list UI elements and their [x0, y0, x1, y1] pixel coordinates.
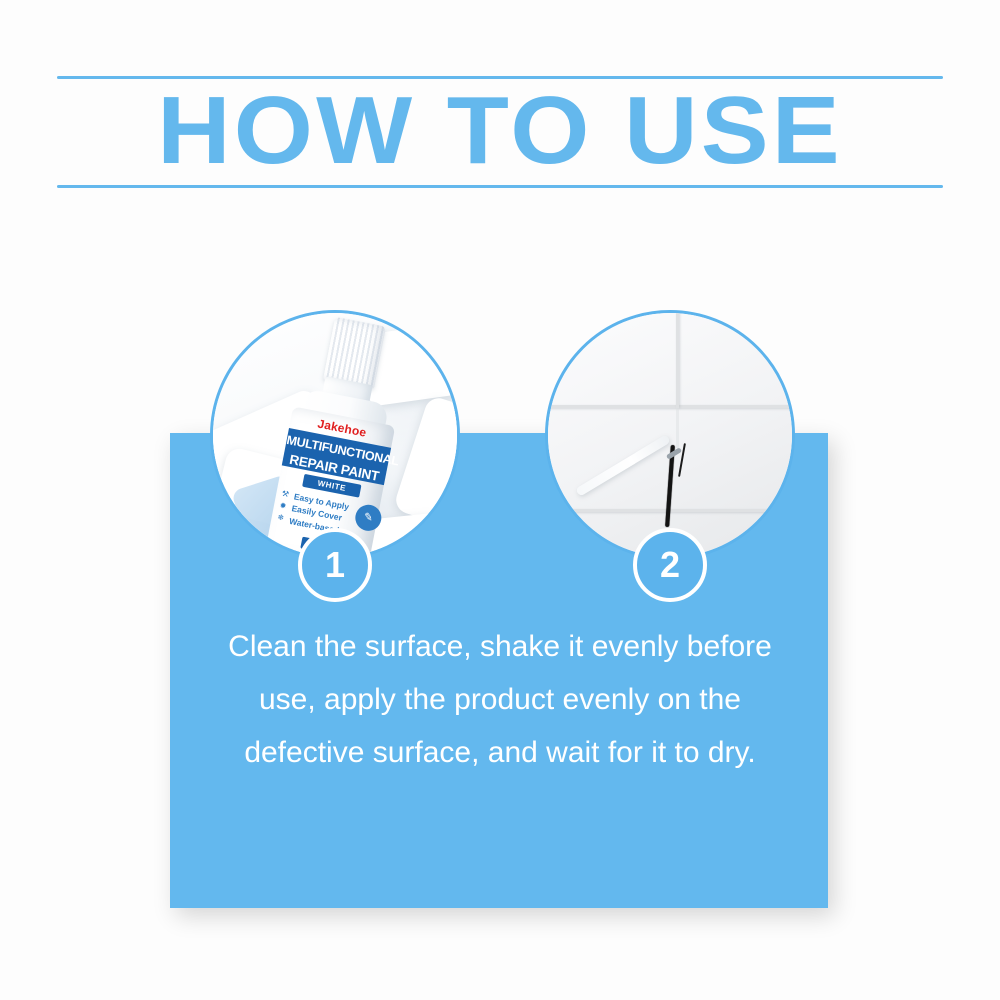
step-1-number-badge: 1 [298, 528, 372, 602]
instruction-text: Clean the surface, shake it evenly befor… [200, 620, 800, 779]
step-1-photo: Jakehoe MULTIFUNCTIONAL REPAIR PAINT WHI… [210, 310, 460, 560]
header-rule-bottom [57, 185, 943, 188]
step-2-number-badge: 2 [633, 528, 707, 602]
hammer-icon: ⚒ [277, 487, 293, 501]
tile-grout-line [548, 405, 795, 408]
page-title: HOW TO USE [0, 79, 1000, 183]
page-header: HOW TO USE [0, 0, 1000, 200]
photo-background [548, 313, 792, 557]
snowflake-icon: ❄ [273, 511, 289, 525]
step-1: Jakehoe MULTIFUNCTIONAL REPAIR PAINT WHI… [210, 310, 460, 560]
tile-grout-line [548, 509, 795, 512]
tile-grout-line [676, 313, 679, 408]
tile-grout-line [676, 408, 679, 448]
step-2: 2 [545, 310, 795, 560]
step-2-photo [545, 310, 795, 560]
